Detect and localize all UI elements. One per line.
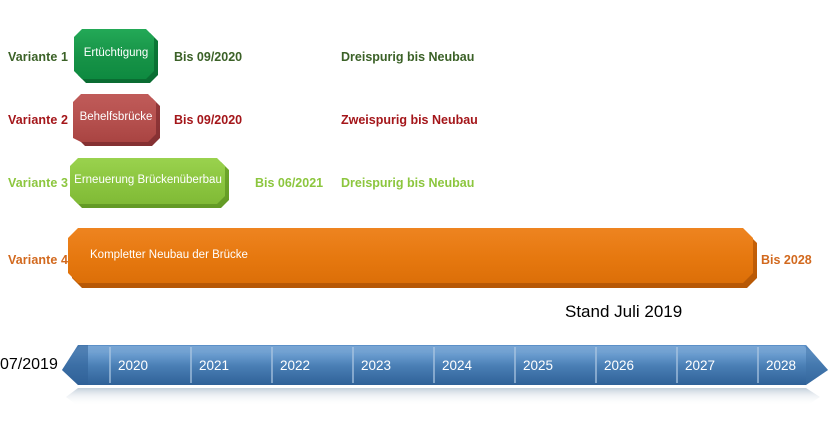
variant-1-deadline: Bis 09/2020 bbox=[174, 51, 242, 64]
variant-1-bar-text: Ertüchtigung bbox=[74, 29, 158, 79]
variant-4-label: Variante 4 bbox=[8, 254, 68, 267]
variant-3-bar-text: Erneuerung Brückenüberbau bbox=[70, 158, 226, 204]
timeline-year-2026[interactable]: 2026 bbox=[604, 359, 634, 373]
timeline-year-2022[interactable]: 2022 bbox=[280, 359, 310, 373]
timeline-year-2027[interactable]: 2027 bbox=[685, 359, 715, 373]
timeline-bar bbox=[62, 345, 828, 406]
timeline-start-label: 07/2019 bbox=[0, 357, 58, 373]
timeline-year-2024[interactable]: 2024 bbox=[442, 359, 472, 373]
variant-1-label: Variante 1 bbox=[8, 51, 68, 64]
variant-3-note: Dreispurig bis Neubau bbox=[341, 177, 474, 190]
timeline-diagram: Variante 1 Ertüchtigung Bis 09/2020 Drei… bbox=[0, 0, 840, 440]
timeline-year-2025[interactable]: 2025 bbox=[523, 359, 553, 373]
variant-4-deadline: Bis 2028 bbox=[761, 254, 812, 267]
variant-2-bar-text: Behelfsbrücke bbox=[73, 94, 159, 142]
timeline-year-2020[interactable]: 2020 bbox=[118, 359, 148, 373]
variant-3-label: Variante 3 bbox=[8, 177, 68, 190]
variant-4-bar-text: Kompletter Neubau der Brücke bbox=[78, 228, 678, 283]
status-note: Stand Juli 2019 bbox=[565, 303, 682, 320]
variant-2-deadline: Bis 09/2020 bbox=[174, 114, 242, 127]
variant-2-label: Variante 2 bbox=[8, 114, 68, 127]
timeline-year-2023[interactable]: 2023 bbox=[361, 359, 391, 373]
variant-2-note: Zweispurig bis Neubau bbox=[341, 114, 478, 127]
variant-3-deadline: Bis 06/2021 bbox=[255, 177, 323, 190]
timeline-year-2028[interactable]: 2028 bbox=[766, 359, 796, 373]
variant-1-note: Dreispurig bis Neubau bbox=[341, 51, 474, 64]
timeline-year-2021[interactable]: 2021 bbox=[199, 359, 229, 373]
